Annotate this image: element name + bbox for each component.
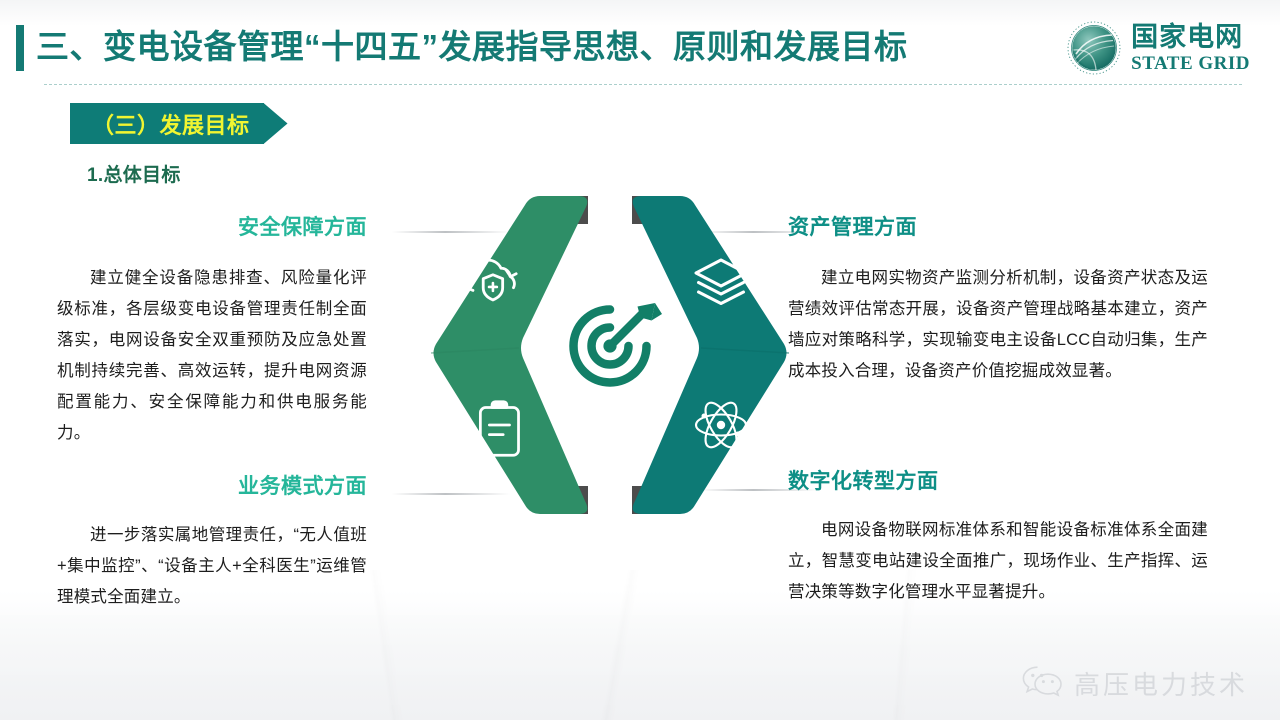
block-digital-body: 电网设备物联网标准体系和智能设备标准体系全面建立，智慧变电站建设全面推广，现场作… [788,515,1208,608]
block-asset: 资产管理方面 建立电网实物资产监测分析机制，设备资产状态及运营绩效评估常态开展，… [788,211,1208,387]
section-banner-arrow [264,103,288,144]
watermark: 高压电力技术 [1021,665,1248,702]
chevron-right [633,196,787,514]
section-banner-label: （三）发展目标 [92,108,250,140]
block-asset-title: 资产管理方面 [788,211,1208,241]
block-business: 业务模式方面 进一步落实属地管理责任，“无人值班+集中监控”、“设备主人+全科医… [57,470,367,613]
wechat-icon [1021,665,1063,702]
section-banner: （三）发展目标 [70,103,288,144]
block-digital-title: 数字化转型方面 [788,465,1208,495]
logo-text-cn: 国家电网 [1131,24,1250,51]
hexagon-diagram [420,190,800,520]
state-grid-logo: 国家电网 STATE GRID [1066,20,1250,76]
header-accent-bar [16,25,24,71]
target-arrow-icon [574,303,663,383]
section-banner-body: （三）发展目标 [70,103,264,144]
block-safety-title: 安全保障方面 [57,211,367,241]
block-asset-body: 建立电网实物资产监测分析机制，设备资产状态及运营绩效评估常态开展，设备资产管理战… [788,263,1208,387]
subheading: 1.总体目标 [87,160,181,187]
logo-text-en: STATE GRID [1131,54,1250,73]
state-grid-globe-icon [1066,20,1122,76]
slide-header: 三、变电设备管理“十四五”发展指导思想、原则和发展目标 [0,0,1280,92]
block-safety-body: 建立健全设备隐患排查、风险量化评级标准，各层级变电设备管理责任制全面落实，电网设… [57,263,367,449]
page-title: 三、变电设备管理“十四五”发展指导思想、原则和发展目标 [36,24,908,70]
block-business-body: 进一步落实属地管理责任，“无人值班+集中监控”、“设备主人+全科医生”运维管理模… [57,520,367,613]
block-safety: 安全保障方面 建立健全设备隐患排查、风险量化评级标准，各层级变电设备管理责任制全… [57,211,367,449]
slide-canvas: 三、变电设备管理“十四五”发展指导思想、原则和发展目标 [0,0,1280,720]
header-divider [44,84,1242,85]
chevron-left [434,196,588,514]
block-business-title: 业务模式方面 [57,470,367,500]
watermark-label: 高压电力技术 [1074,665,1248,702]
block-digital: 数字化转型方面 电网设备物联网标准体系和智能设备标准体系全面建立，智慧变电站建设… [788,465,1208,608]
